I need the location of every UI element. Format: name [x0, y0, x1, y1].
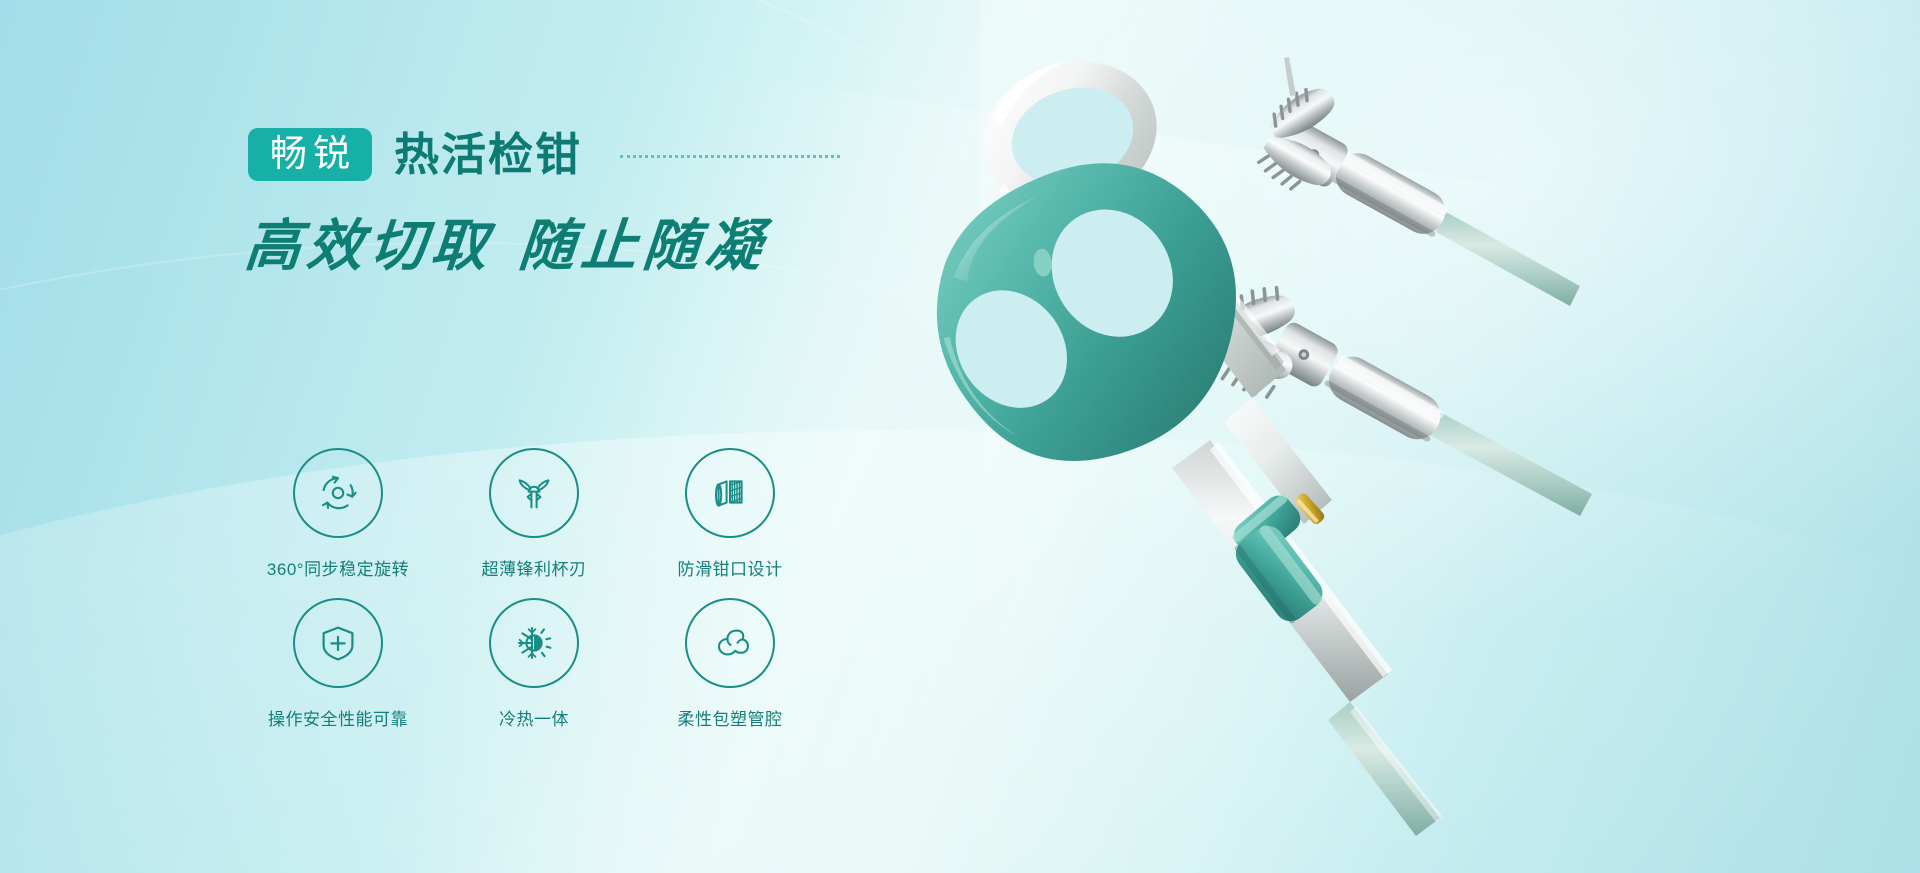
feature-item: 冷热一体: [436, 598, 632, 748]
product-banner: 畅锐 热活检钳 高效切取随止随凝 360°同步稳定旋转: [0, 0, 1920, 873]
title-row: 畅锐 热活检钳: [248, 128, 840, 181]
slogan-part-1: 高效切取: [242, 213, 496, 279]
steel-jaw-assembly-serrated: [1203, 280, 1592, 516]
feature-icon-frame: [489, 448, 579, 538]
brand-badge: 畅锐: [248, 128, 372, 181]
hot-cold-icon: [510, 619, 558, 667]
shield-plus-icon: [314, 619, 362, 667]
feature-label: 操作安全性能可靠: [268, 705, 408, 730]
feature-label: 柔性包塑管腔: [678, 705, 783, 730]
steel-jaw-assembly-open: [1253, 57, 1580, 306]
feature-item: 柔性包塑管腔: [632, 598, 828, 748]
feature-icon-frame: [293, 448, 383, 538]
feature-label: 防滑钳口设计: [678, 555, 783, 580]
feature-item: 操作安全性能可靠: [240, 598, 436, 748]
dotted-divider: [620, 155, 840, 158]
teal-thumb-ring-handle: [890, 117, 1288, 507]
feature-icon-frame: [293, 598, 383, 688]
product-illustration: [880, 0, 1920, 873]
feature-label: 360°同步稳定旋转: [267, 555, 409, 580]
feature-item: 超薄锋利杯刃: [436, 448, 632, 598]
anti-slip-jaw-icon: [706, 469, 754, 517]
slogan-part-2: 随止随凝: [516, 213, 770, 279]
feature-item: 360°同步稳定旋转: [240, 448, 436, 598]
feature-icon-frame: [685, 598, 775, 688]
feature-icon-frame: [489, 598, 579, 688]
feature-label: 超薄锋利杯刃: [482, 555, 587, 580]
slogan: 高效切取随止随凝: [242, 214, 770, 278]
flexible-sheath-icon: [706, 619, 754, 667]
feature-grid: 360°同步稳定旋转 超薄锋利杯刃: [240, 448, 828, 748]
feature-label: 冷热一体: [499, 705, 569, 730]
page-title: 热活检钳: [394, 132, 582, 177]
rotation-360-icon: [314, 469, 362, 517]
feature-icon-frame: [685, 448, 775, 538]
feature-item: 防滑钳口设计: [632, 448, 828, 598]
forceps-jaws-icon: [510, 469, 558, 517]
hot-biopsy-forceps-photo: [880, 0, 1920, 873]
